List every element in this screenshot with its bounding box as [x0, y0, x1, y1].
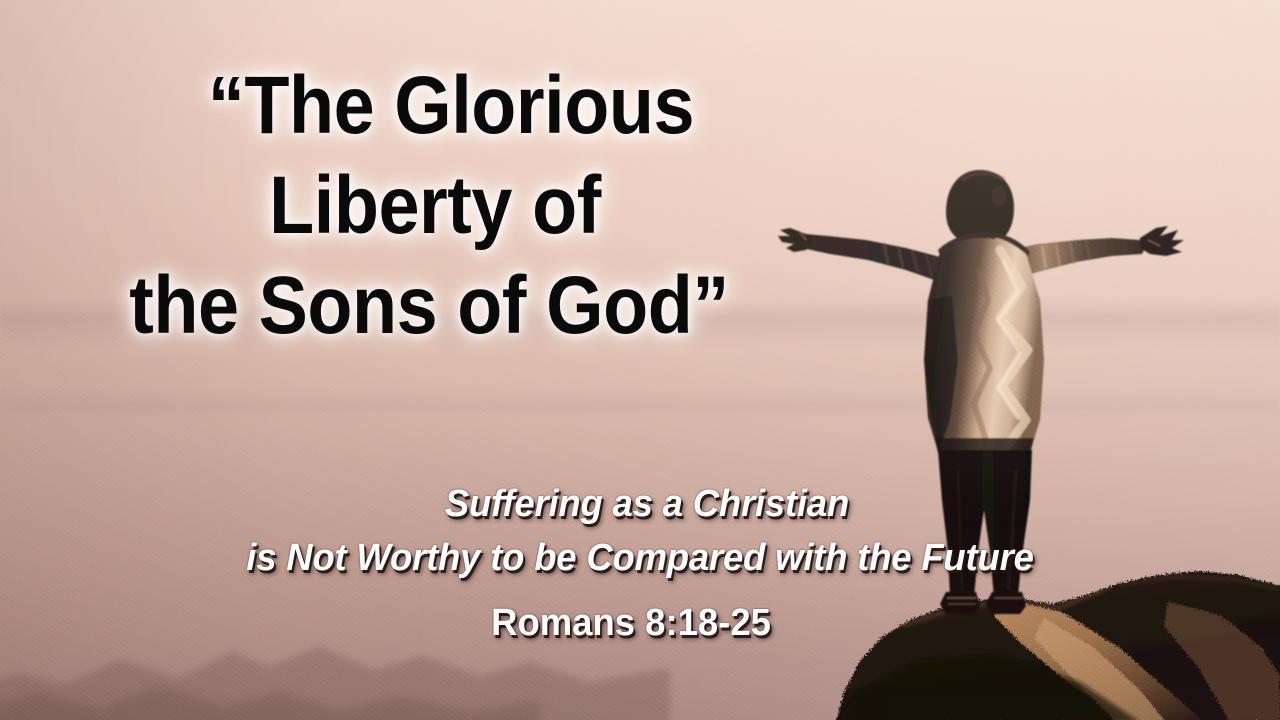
scripture-reference: Romans 8:18-25	[8, 602, 1254, 645]
title-line-1: “The Glorious	[65, 56, 837, 156]
title-line-2: Liberty of	[35, 156, 836, 256]
sermon-title-slide: “The Glorious Liberty of the Sons of God…	[0, 0, 1280, 720]
subtitle-line-2: is Not Worthy to be Compared with the Fu…	[26, 532, 1255, 586]
subtitle-line-1: Suffering as a Christian	[39, 478, 1254, 532]
slide-title: “The Glorious Liberty of the Sons of God…	[0, 56, 880, 356]
mountain-silhouette-far-icon	[0, 650, 540, 720]
horizon-haze-band-lower	[0, 392, 1280, 418]
slide-subtitle: Suffering as a Christian is Not Worthy t…	[0, 478, 1280, 645]
title-line-3: the Sons of God”	[23, 256, 835, 356]
